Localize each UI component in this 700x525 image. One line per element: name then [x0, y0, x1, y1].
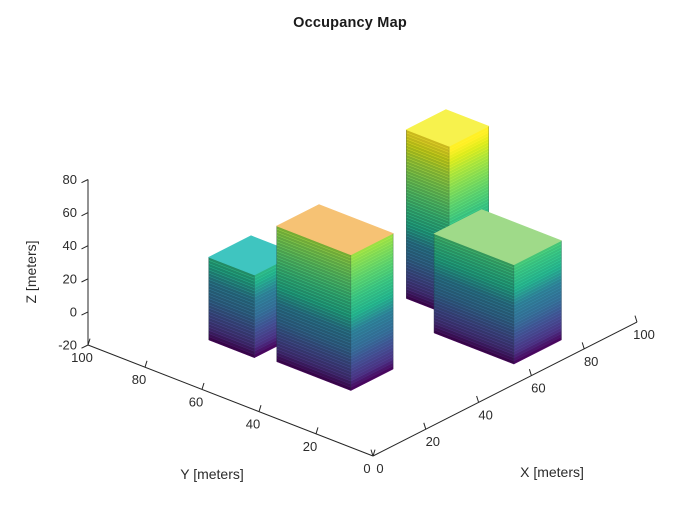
bars-layer: [209, 110, 562, 391]
z-tick-label: 60: [63, 205, 77, 220]
y-tick-label: 0: [363, 461, 370, 476]
z-axis-title: Z [meters]: [23, 240, 39, 303]
y-tick-label: 20: [303, 439, 317, 454]
x-tick-label: 20: [426, 434, 440, 449]
z-tick: [82, 213, 89, 216]
z-tick-label: 0: [70, 304, 77, 319]
occupancy-bar: [277, 205, 393, 391]
x-tick-label: 40: [478, 407, 492, 422]
y-tick-label: 100: [71, 350, 93, 365]
x-tick: [424, 423, 426, 429]
occupancy-map-figure: Occupancy Map -2002040608002040608010002…: [0, 0, 700, 525]
x-tick: [529, 369, 531, 375]
z-tick: [82, 180, 89, 183]
z-tick: [82, 246, 89, 249]
z-tick: [82, 312, 89, 315]
z-tick: [82, 279, 89, 282]
y-axis-title: Y [meters]: [180, 466, 244, 482]
y-tick-label: 60: [189, 394, 203, 409]
y-tick: [316, 427, 318, 433]
y-tick: [145, 361, 147, 367]
y-tick: [259, 405, 261, 411]
y-tick: [202, 383, 204, 389]
y-tick-label: 80: [132, 372, 146, 387]
x-tick-label: 60: [531, 381, 545, 396]
x-axis-title: X [meters]: [520, 464, 584, 480]
occupancy-map-plot: -20020406080020406080100020406080100Z [m…: [0, 0, 700, 525]
z-tick-label: 80: [63, 172, 77, 187]
occupancy-bar: [434, 210, 561, 365]
x-tick-label: 80: [584, 354, 598, 369]
z-tick-label: 40: [63, 238, 77, 253]
x-tick: [582, 342, 584, 348]
x-tick-label: 0: [376, 461, 383, 476]
x-tick: [635, 316, 637, 322]
x-tick: [477, 396, 479, 402]
x-tick-label: 100: [633, 327, 655, 342]
z-tick: [82, 345, 89, 348]
z-tick-label: 20: [63, 271, 77, 286]
y-tick-label: 40: [246, 417, 260, 432]
